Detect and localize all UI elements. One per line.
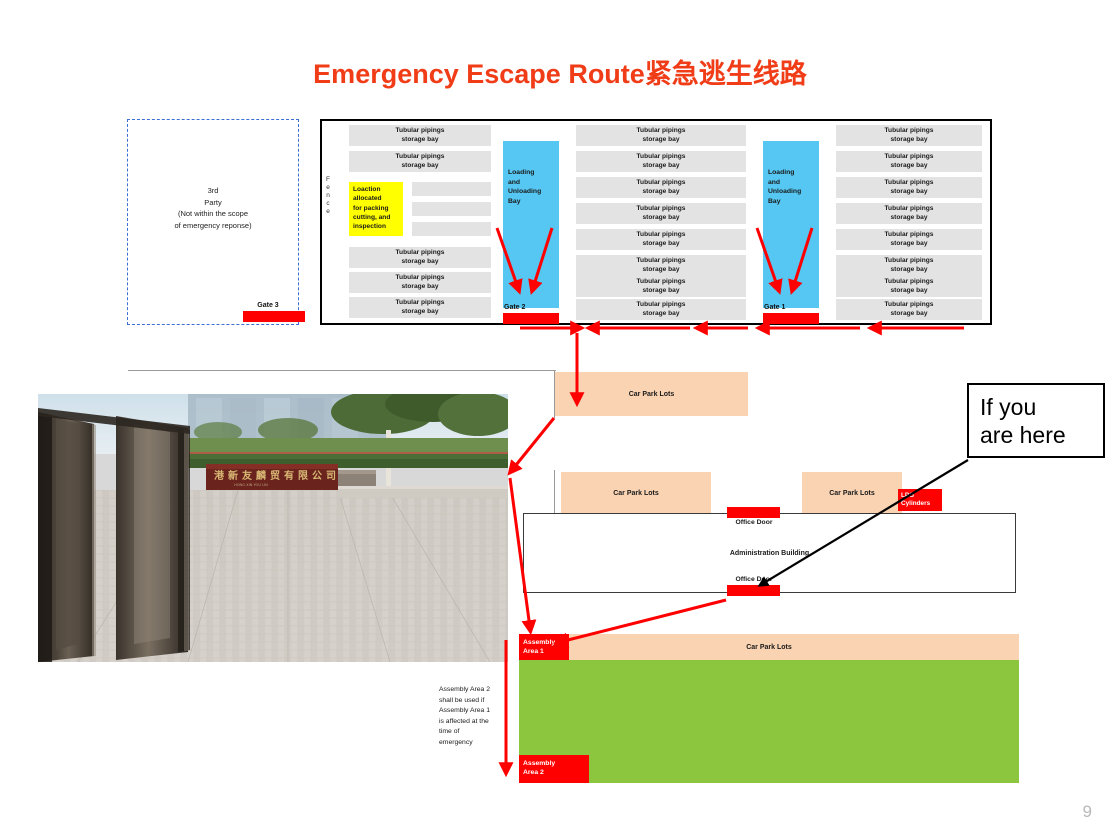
bay-line-1: Tubular pipings	[885, 179, 934, 188]
site-divider-line	[128, 370, 556, 371]
gate-1-bar	[763, 313, 819, 324]
bay-line-1: Tubular pipings	[637, 179, 686, 188]
green-field-area	[519, 659, 1019, 783]
assembly-note-line-6: emergency	[439, 738, 517, 749]
storage-bay-empty	[412, 202, 491, 216]
assembly-1-line-1: Assembly	[523, 638, 569, 647]
yellow-line-2: allocated	[353, 194, 399, 203]
assembly-note-line-3: Assembly Area 1	[439, 706, 517, 717]
assembly-2-line-1: Assembly	[523, 759, 589, 768]
bay-line-2: storage bay	[885, 162, 934, 171]
office-door-lower-label: Office Door	[715, 576, 793, 583]
bay-line-1: Tubular pipings	[396, 299, 445, 308]
gate-2-text: Gate 2	[504, 304, 525, 311]
car-park-lots-lower: Car Park Lots	[519, 634, 1019, 660]
car-park-label: Car Park Lots	[829, 490, 875, 497]
you-are-here-callout: If you are here	[967, 383, 1105, 458]
bay-line-1: Tubular pipings	[637, 301, 686, 310]
bay-line-2: storage bay	[396, 162, 445, 171]
bay-line-2: storage bay	[885, 266, 934, 275]
svg-text:贸: 贸	[270, 469, 280, 482]
storage-bay: Tubular pipings storage bay	[576, 125, 746, 146]
bay-line-1: Tubular pipings	[637, 205, 686, 214]
assembly-1-line-2: Area 1	[523, 647, 569, 656]
third-party-line-4: of emergency reponse)	[127, 220, 299, 232]
storage-bay: Tubular pipings storage bay	[836, 203, 982, 224]
storage-bay: Tubular pipings storage bay	[836, 151, 982, 172]
loading-bay-line-4: Bay	[768, 197, 815, 207]
bay-line-1: Tubular pipings	[396, 127, 445, 136]
bay-line-2: storage bay	[885, 136, 934, 145]
loading-bay-line-3: Unloading	[768, 187, 815, 197]
svg-text:有: 有	[284, 469, 294, 482]
yellow-line-1: Loaction	[353, 185, 399, 194]
bay-line-2: storage bay	[885, 240, 934, 249]
fence-letter-4: c	[322, 200, 334, 208]
bay-line-1: Tubular pipings	[637, 127, 686, 136]
storage-bay-empty	[412, 222, 491, 236]
yellow-line-5: inspection	[353, 222, 399, 231]
loading-unloading-bay-1: Loading and Unloading Bay	[763, 141, 819, 308]
third-party-line-1: 3rd	[127, 185, 299, 197]
storage-bay: Tubular pipings storage bay	[576, 177, 746, 198]
bay-line-2: storage bay	[637, 162, 686, 171]
car-park-label: Car Park Lots	[746, 644, 792, 651]
callout-line-2: are here	[980, 421, 1103, 449]
bay-line-1: Tubular pipings	[637, 257, 686, 266]
page-title: Emergency Escape Route紧急逃生线路	[0, 52, 1120, 91]
bay-line-2: storage bay	[637, 136, 686, 145]
car-park-lots-left: Car Park Lots	[561, 472, 711, 514]
page-number: 9	[1083, 802, 1092, 822]
storage-bay: Tubular pipings storage bay	[349, 272, 491, 293]
storage-bay: Tubular pipings storage bay	[836, 299, 982, 320]
bay-line-1: Tubular pipings	[637, 231, 686, 240]
third-party-line-2: Party	[127, 197, 299, 209]
storage-bay: Tubular pipings storage bay	[836, 229, 982, 250]
bay-line-1: Tubular pipings	[885, 257, 934, 266]
lpg-line-1: LPG	[901, 492, 942, 500]
bay-line-2: storage bay	[396, 258, 445, 267]
storage-bay: Tubular pipings storage bay	[576, 299, 746, 320]
fence-letter-5: e	[322, 208, 334, 216]
svg-text:司: 司	[326, 470, 336, 482]
bay-line-1: Tubular pipings	[885, 231, 934, 240]
office-door-lower-bar	[727, 585, 780, 596]
storage-bay: Tubular pipings storage bay	[576, 276, 746, 297]
bay-line-1: Tubular pipings	[885, 301, 934, 310]
assembly-area-1: Assembly Area 1	[519, 634, 569, 660]
fence-letter-1: F	[322, 176, 334, 184]
svg-text:新: 新	[228, 469, 238, 482]
car-park-label: Car Park Lots	[629, 391, 675, 398]
svg-text:港: 港	[214, 469, 225, 482]
car-park-lots-right: Car Park Lots	[802, 472, 902, 514]
loading-bay-line-1: Loading	[508, 168, 555, 178]
bay-line-1: Tubular pipings	[637, 153, 686, 162]
assembly-2-line-2: Area 2	[523, 768, 589, 777]
bay-line-1: Tubular pipings	[885, 278, 934, 287]
bay-line-2: storage bay	[637, 287, 686, 296]
gate-3-label: Gate 3	[232, 302, 304, 309]
loading-bay-line-3: Unloading	[508, 187, 555, 197]
callout-line-1: If you	[980, 393, 1103, 421]
storage-bay: Tubular pipings storage bay	[576, 255, 746, 276]
bay-line-2: storage bay	[885, 310, 934, 319]
bay-line-1: Tubular pipings	[396, 249, 445, 258]
administration-building-label: Administration Building	[523, 550, 1016, 557]
svg-text:友: 友	[242, 469, 252, 482]
storage-bay-empty	[412, 182, 491, 196]
office-door-text: Office Door	[735, 519, 772, 526]
assembly-area-2: Assembly Area 2	[519, 755, 589, 783]
car-park-label: Car Park Lots	[613, 490, 659, 497]
gate-1-label: Gate 1	[764, 304, 820, 311]
storage-bay: Tubular pipings storage bay	[836, 125, 982, 146]
assembly-note-line-2: shall be used if	[439, 696, 517, 707]
loading-unloading-bay-2: Loading and Unloading Bay	[503, 141, 559, 308]
yellow-line-3: for packing	[353, 204, 399, 213]
office-door-text: Office Door	[735, 576, 772, 583]
loading-bay-line-1: Loading	[768, 168, 815, 178]
office-door-upper-label: Office Door	[715, 519, 793, 526]
site-divider-line-vertical-2	[554, 470, 555, 515]
fence-letter-2: e	[322, 184, 334, 192]
svg-text:公: 公	[312, 470, 322, 482]
storage-bay: Tubular pipings storage bay	[576, 203, 746, 224]
storage-bay: Tubular pipings storage bay	[836, 255, 982, 276]
bay-line-2: storage bay	[885, 188, 934, 197]
storage-bay: Tubular pipings storage bay	[836, 276, 982, 297]
bay-line-1: Tubular pipings	[885, 153, 934, 162]
bay-line-2: storage bay	[396, 283, 445, 292]
bay-line-2: storage bay	[885, 214, 934, 223]
storage-bay: Tubular pipings storage bay	[349, 151, 491, 172]
third-party-label: 3rd Party (Not within the scope of emerg…	[127, 185, 299, 232]
gate-2-label: Gate 2	[504, 304, 560, 311]
gate-3-bar	[243, 311, 305, 322]
lpg-cylinders-zone: LPG Cylinders	[898, 489, 942, 511]
assembly-note-line-1: Assembly Area 2	[439, 685, 517, 696]
assembly-note-line-5: time of	[439, 727, 517, 738]
gate-1-text: Gate 1	[764, 304, 785, 311]
storage-bay: Tubular pipings storage bay	[349, 247, 491, 268]
yellow-line-4: cutting, and	[353, 213, 399, 222]
bay-line-2: storage bay	[396, 308, 445, 317]
fence-letter-3: n	[322, 192, 334, 200]
loading-bay-line-4: Bay	[508, 197, 555, 207]
svg-text:限: 限	[298, 470, 309, 482]
bay-line-1: Tubular pipings	[396, 274, 445, 283]
bay-line-2: storage bay	[637, 214, 686, 223]
bay-line-2: storage bay	[885, 287, 934, 296]
svg-text:麟: 麟	[256, 469, 267, 482]
slide-canvas: Emergency Escape Route紧急逃生线路 9 3rd Party…	[0, 0, 1120, 840]
gate-2-bar	[503, 313, 559, 324]
storage-bay: Tubular pipings storage bay	[576, 151, 746, 172]
storage-bay: Tubular pipings storage bay	[576, 229, 746, 250]
assembly-note-line-4: is affected at the	[439, 717, 517, 728]
storage-bay: Tubular pipings storage bay	[349, 125, 491, 146]
bay-line-2: storage bay	[637, 266, 686, 275]
bay-line-2: storage bay	[637, 310, 686, 319]
bay-line-2: storage bay	[637, 240, 686, 249]
bay-line-1: Tubular pipings	[637, 278, 686, 287]
fence-label: F e n c e	[322, 176, 334, 216]
packing-cutting-inspection-zone: Loaction allocated for packing cutting, …	[349, 182, 403, 236]
storage-bay: Tubular pipings storage bay	[349, 297, 491, 318]
loading-bay-line-2: and	[508, 178, 555, 188]
bay-line-2: storage bay	[637, 188, 686, 197]
factory-entrance-photo: 港新 友麟 贸有 限公 司 HONG XIN YOU LIN	[38, 394, 508, 662]
office-door-upper-bar	[727, 507, 780, 518]
bay-line-1: Tubular pipings	[396, 153, 445, 162]
bay-line-2: storage bay	[396, 136, 445, 145]
car-park-lots-upper: Car Park Lots	[555, 372, 748, 416]
lpg-line-2: Cylinders	[901, 500, 942, 508]
bay-line-1: Tubular pipings	[885, 205, 934, 214]
loading-bay-line-2: and	[768, 178, 815, 188]
assembly-area-2-note: Assembly Area 2 shall be used if Assembl…	[439, 685, 517, 748]
third-party-line-3: (Not within the scope	[127, 208, 299, 220]
storage-bay: Tubular pipings storage bay	[836, 177, 982, 198]
svg-text:HONG XIN YOU LIN: HONG XIN YOU LIN	[234, 483, 268, 487]
bay-line-1: Tubular pipings	[885, 127, 934, 136]
